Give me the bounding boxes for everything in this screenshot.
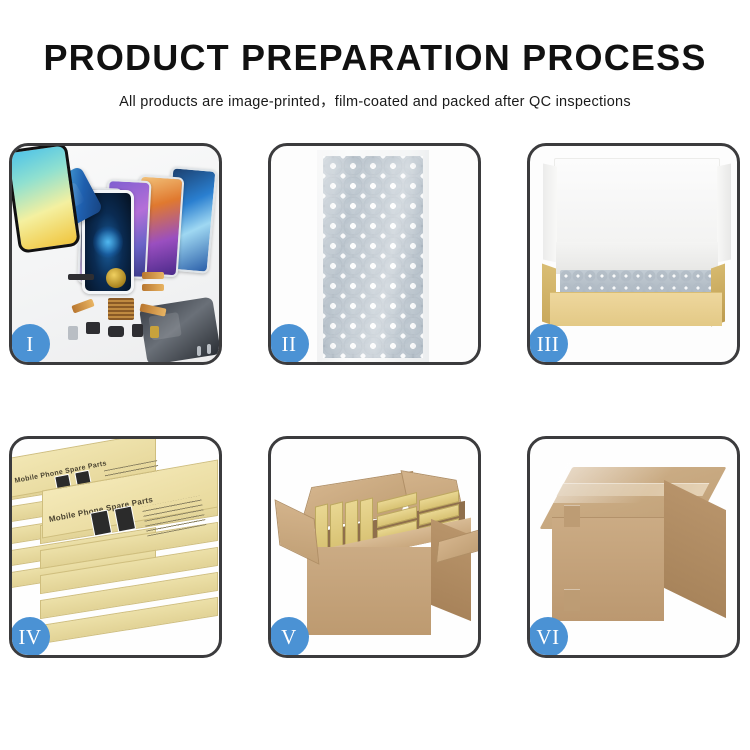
- step-badge-6: VI: [528, 617, 568, 657]
- carton-top-sheen: [545, 463, 736, 503]
- kraft-box-front-face: [550, 292, 722, 326]
- process-step-6[interactable]: VI: [527, 436, 740, 658]
- header: PRODUCT PREPARATION PROCESS All products…: [0, 0, 750, 111]
- small-part-icon: [68, 326, 78, 340]
- film-sheen: [317, 150, 429, 362]
- process-step-5[interactable]: V: [268, 436, 481, 658]
- step-badge-3: III: [528, 324, 568, 364]
- process-step-2[interactable]: II: [268, 143, 481, 365]
- step-badge-2: II: [269, 324, 309, 364]
- small-part-icon: [132, 324, 143, 337]
- carton-side-face: [664, 480, 726, 618]
- tape-tab-icon: [564, 505, 580, 527]
- small-part-icon: [86, 322, 100, 334]
- page-title: PRODUCT PREPARATION PROCESS: [0, 40, 750, 76]
- process-step-grid: I II III: [9, 143, 741, 683]
- small-part-icon: [68, 274, 94, 280]
- step-badge-4: IV: [10, 617, 50, 657]
- cracked-phone-screen-icon: [12, 146, 81, 254]
- flex-cable-part-icon: [142, 284, 164, 291]
- carton-front-face: [307, 547, 431, 635]
- product-preparation-infographic: PRODUCT PREPARATION PROCESS All products…: [0, 0, 750, 750]
- process-step-4[interactable]: Mobile Phone Spare Parts Mobile Phone Sp…: [9, 436, 222, 658]
- process-step-3[interactable]: III: [527, 143, 740, 365]
- speaker-coil-part-icon: [106, 268, 126, 288]
- tape-tab-icon: [564, 589, 580, 611]
- small-part-icon: [108, 326, 124, 337]
- chip-grid-part-icon: [108, 298, 134, 320]
- flex-cable-part-icon: [142, 272, 164, 279]
- process-step-1[interactable]: I: [9, 143, 222, 365]
- small-part-icon: [150, 326, 159, 338]
- screw-part-icon: [207, 344, 211, 354]
- page-subtitle: All products are image-printed，film-coat…: [0, 90, 750, 111]
- step-badge-5: V: [269, 617, 309, 657]
- step-badge-1: I: [10, 324, 50, 364]
- flex-cable-part-icon: [71, 298, 94, 313]
- yellow-box-icon: [330, 501, 343, 550]
- screw-part-icon: [197, 346, 201, 356]
